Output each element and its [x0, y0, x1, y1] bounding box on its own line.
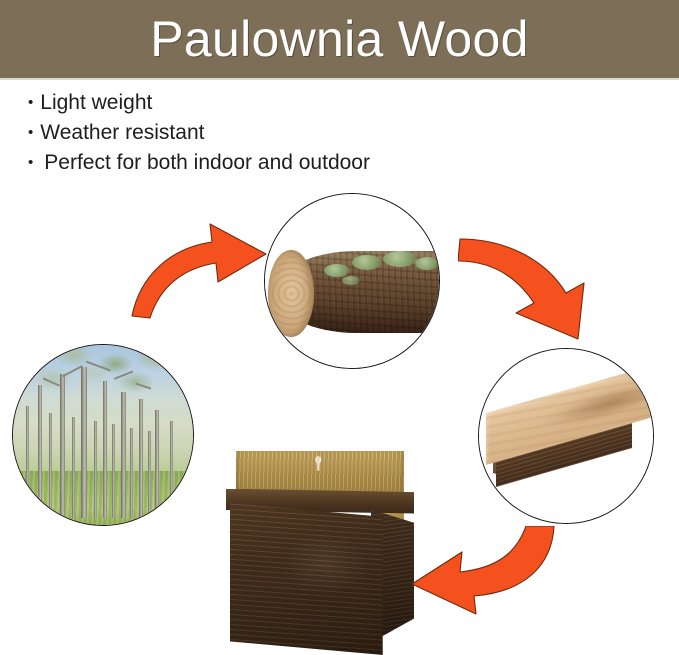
tree-trunk: [60, 374, 65, 518]
tree-trunk: [139, 399, 143, 518]
photo-sawn-timber-block: [478, 348, 654, 524]
arrow-log-to-plank-icon: [458, 233, 608, 343]
tree-trunk: [112, 424, 115, 518]
tree-trunk: [130, 428, 133, 518]
box-front-panel: [230, 503, 383, 655]
log-cut-end: [268, 250, 313, 337]
arrow-plank-to-box-icon: [396, 526, 560, 622]
header-band: Paulownia Wood: [0, 0, 679, 78]
page-title: Paulownia Wood: [150, 14, 529, 64]
tree-trunk: [170, 421, 173, 518]
log-moss-patch: [342, 276, 360, 285]
bullet-dot-icon: •: [28, 155, 33, 170]
feature-label: Perfect for both indoor and outdoor: [44, 148, 370, 178]
photo-finished-wooden-planter-box: [222, 447, 418, 655]
list-item: • Weather resistant: [28, 118, 548, 148]
tree-trunk: [49, 413, 52, 517]
list-item: • Perfect for both indoor and outdoor: [28, 148, 548, 178]
bullet-dot-icon: •: [28, 95, 33, 110]
log-moss-patch: [324, 264, 350, 277]
bullet-dot-icon: •: [28, 125, 33, 140]
timber-scene: [479, 349, 653, 523]
feature-bullet-list: • Light weight • Weather resistant • Per…: [28, 88, 548, 177]
log-scene: [265, 194, 439, 368]
feature-label: Weather resistant: [40, 118, 204, 148]
feature-label: Light weight: [40, 88, 152, 118]
tree-trunk: [103, 381, 107, 518]
tree-trunk: [94, 421, 97, 518]
photo-harvested-log: [264, 193, 440, 369]
tree-trunk: [148, 431, 151, 517]
log-moss-patch: [352, 255, 382, 270]
log-moss-patch: [415, 257, 439, 270]
keyhole-hanging-slot-icon: [313, 455, 323, 471]
tree-trunk: [155, 410, 159, 518]
tree-trunk: [26, 406, 29, 518]
tree-trunk: [81, 367, 87, 518]
tree-trunk: [72, 417, 75, 518]
arrow-trees-to-log-icon: [126, 218, 274, 322]
header-divider: [0, 78, 679, 80]
tree-trunk: [38, 385, 42, 518]
photo-paulownia-tree-plantation: [12, 344, 194, 526]
tree-trunk: [121, 392, 126, 518]
list-item: • Light weight: [28, 88, 548, 118]
tree-plantation-scene: [13, 345, 193, 525]
